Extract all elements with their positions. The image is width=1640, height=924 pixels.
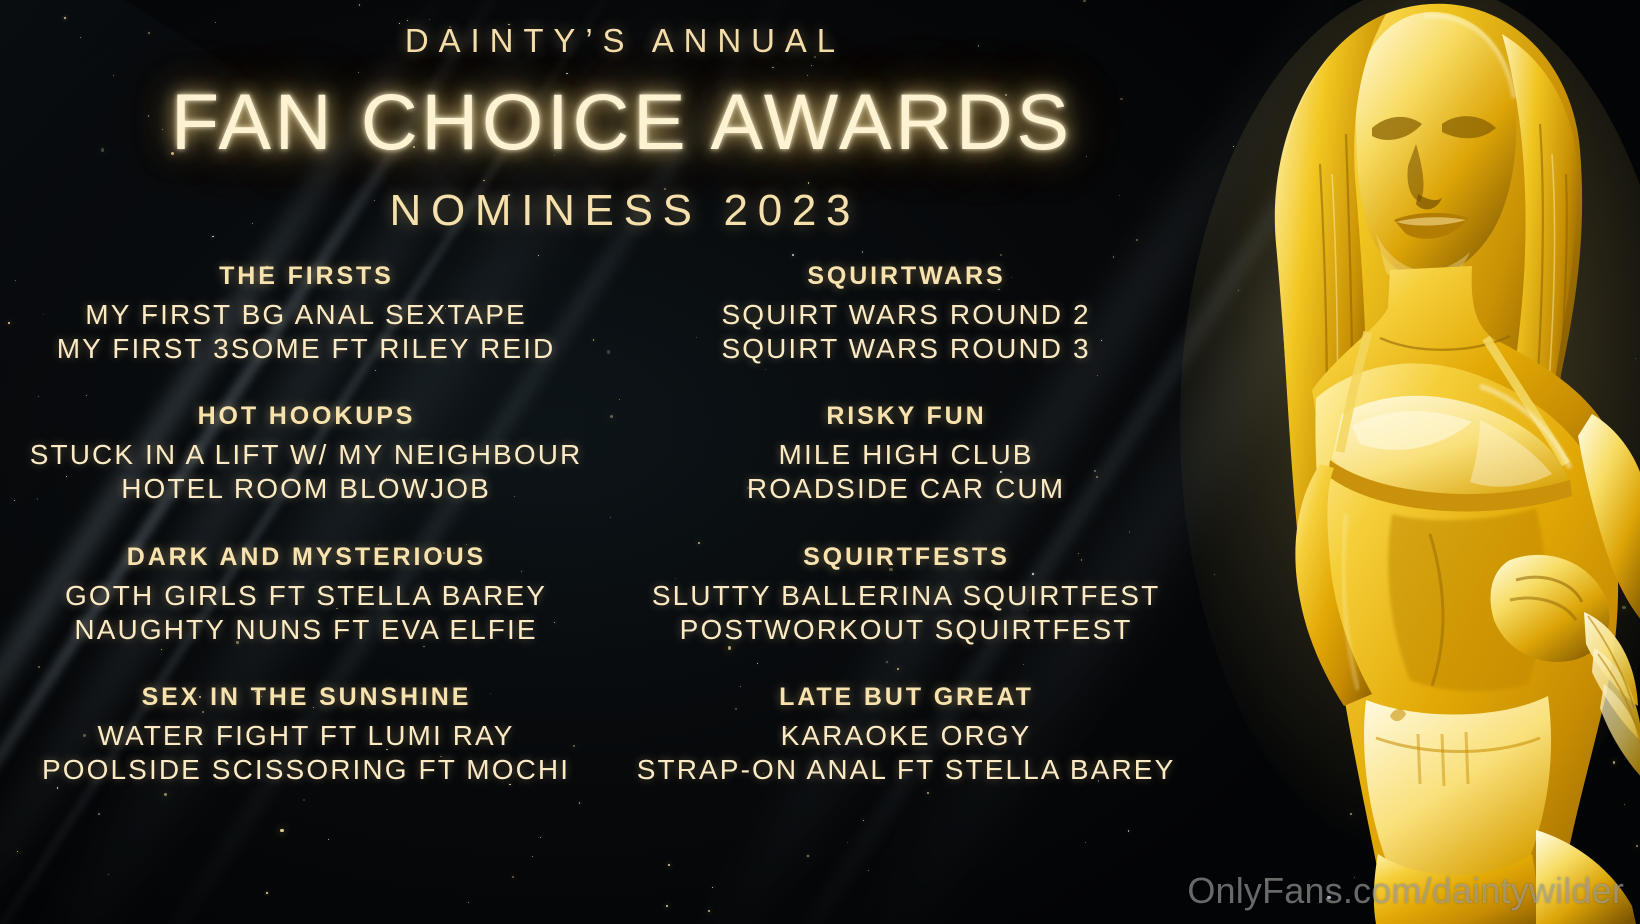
- sparkle-particle: [1136, 239, 1138, 241]
- award-nominees-poster: DAINTY’S ANNUAL FAN CHOICE AWARDS NOMINE…: [0, 0, 1640, 924]
- sparkle-particle: [1085, 842, 1086, 843]
- sparkle-particle: [807, 855, 808, 856]
- nominee-item: HOTEL ROOM BLOWJOB: [0, 472, 610, 506]
- kicker-text: DAINTY’S ANNUAL: [0, 22, 1240, 60]
- sparkle-particle: [57, 787, 58, 788]
- category-title: RISKY FUN: [610, 402, 1200, 431]
- sparkle-particle: [847, 842, 848, 843]
- sparkle-particle: [863, 820, 864, 821]
- sparkle-particle: [108, 874, 109, 875]
- sparkle-particle: [164, 793, 167, 796]
- sparkle-particle: [532, 856, 533, 857]
- nominee-item: MY FIRST 3SOME FT RILEY REID: [0, 332, 610, 366]
- watermark: OnlyFans.com/daintywilder: [1187, 870, 1624, 912]
- sparkle-particle: [468, 902, 469, 903]
- poster-header: DAINTY’S ANNUAL FAN CHOICE AWARDS NOMINE…: [0, 0, 1240, 236]
- sparkle-particle: [666, 905, 668, 907]
- sparkle-particle: [266, 892, 267, 893]
- category-title: SEX IN THE SUNSHINE: [0, 683, 610, 712]
- nominee-item: WATER FIGHT FT LUMI RAY: [0, 719, 610, 753]
- right-column: SQUIRTWARSSQUIRT WARS ROUND 2SQUIRT WARS…: [610, 262, 1200, 787]
- nominee-item: SQUIRT WARS ROUND 2: [610, 298, 1200, 332]
- category-title: HOT HOOKUPS: [0, 402, 610, 431]
- category-block: HOT HOOKUPSSTUCK IN A LIFT W/ MY NEIGHBO…: [0, 402, 610, 506]
- sparkle-particle: [328, 839, 329, 840]
- nominee-item: NAUGHTY NUNS FT EVA ELFIE: [0, 613, 610, 647]
- nominee-item: GOTH GIRLS FT STELLA BAREY: [0, 579, 610, 613]
- category-title: THE FIRSTS: [0, 262, 610, 291]
- category-block: DARK AND MYSTERIOUSGOTH GIRLS FT STELLA …: [0, 543, 610, 647]
- nominees-columns: THE FIRSTSMY FIRST BG ANAL SEXTAPEMY FIR…: [0, 262, 1200, 787]
- sparkle-particle: [868, 870, 869, 871]
- sparkle-particle: [17, 851, 18, 852]
- category-title: SQUIRTWARS: [610, 262, 1200, 291]
- nominee-item: ROADSIDE CAR CUM: [610, 472, 1200, 506]
- nominee-item: SQUIRT WARS ROUND 3: [610, 332, 1200, 366]
- sparkle-particle: [540, 837, 541, 838]
- nominee-item: MY FIRST BG ANAL SEXTAPE: [0, 298, 610, 332]
- nominee-item: STRAP-ON ANAL FT STELLA BAREY: [610, 753, 1200, 787]
- subtitle-text: NOMINESS 2023: [0, 186, 1240, 236]
- nominee-item: POOLSIDE SCISSORING FT MOCHI: [0, 753, 610, 787]
- category-block: RISKY FUNMILE HIGH CLUBROADSIDE CAR CUM: [610, 402, 1200, 506]
- sparkle-particle: [668, 864, 670, 866]
- category-block: LATE BUT GREATKARAOKE ORGYSTRAP-ON ANAL …: [610, 683, 1200, 787]
- category-title: LATE BUT GREAT: [610, 683, 1200, 712]
- left-column: THE FIRSTSMY FIRST BG ANAL SEXTAPEMY FIR…: [0, 262, 610, 787]
- sparkle-particle: [712, 887, 713, 888]
- sparkle-particle: [538, 255, 539, 256]
- sparkle-particle: [927, 792, 929, 794]
- nominee-item: MILE HIGH CLUB: [610, 438, 1200, 472]
- sparkle-particle: [1113, 256, 1114, 257]
- category-block: SEX IN THE SUNSHINEWATER FIGHT FT LUMI R…: [0, 683, 610, 787]
- category-block: SQUIRTFESTSSLUTTY BALLERINA SQUIRTFESTPO…: [610, 543, 1200, 647]
- sparkle-particle: [792, 254, 794, 256]
- sparkle-particle: [708, 910, 710, 912]
- gold-statue-figure: [1180, 0, 1640, 924]
- sparkle-particle: [512, 876, 514, 878]
- nominee-item: KARAOKE ORGY: [610, 719, 1200, 753]
- sparkle-particle: [1128, 830, 1129, 831]
- category-block: SQUIRTWARSSQUIRT WARS ROUND 2SQUIRT WARS…: [610, 262, 1200, 366]
- category-title: DARK AND MYSTERIOUS: [0, 543, 610, 572]
- sparkle-particle: [579, 802, 580, 803]
- sparkle-particle: [280, 829, 283, 832]
- sparkle-particle: [303, 799, 305, 801]
- sparkle-particle: [1000, 254, 1002, 256]
- nominee-item: SLUTTY BALLERINA SQUIRTFEST: [610, 579, 1200, 613]
- page-title: FAN CHOICE AWARDS: [0, 76, 1240, 168]
- sparkle-particle: [862, 251, 863, 252]
- nominee-item: STUCK IN A LIFT W/ MY NEIGHBOUR: [0, 438, 610, 472]
- nominee-item: POSTWORKOUT SQUIRTFEST: [610, 613, 1200, 647]
- sparkle-particle: [98, 813, 100, 815]
- category-block: THE FIRSTSMY FIRST BG ANAL SEXTAPEMY FIR…: [0, 262, 610, 366]
- category-title: SQUIRTFESTS: [610, 543, 1200, 572]
